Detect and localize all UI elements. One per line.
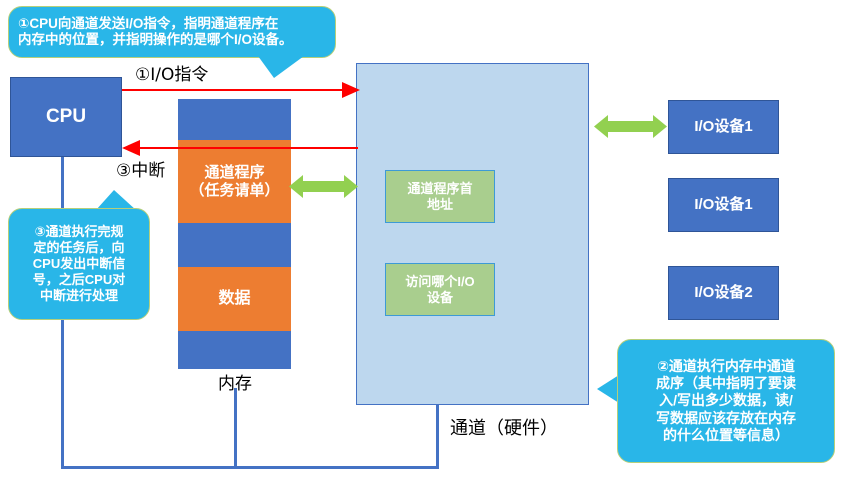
memory-data-label: 数据 [218,290,250,308]
io-device-1[interactable]: I/O设备1 [668,100,779,154]
callout-step1-line1: ①CPU向通道发送I/O指令，指明通道程序在 [18,16,278,32]
bus-line-horizontal [61,466,439,469]
memory-segment-free-bottom [178,331,291,369]
channel-caption-text: 通道（硬件） [450,418,558,439]
bus-line-memory [234,388,237,469]
callout-step2-line5: 的什么位置等信息） [663,427,789,444]
channel-item-program-address-line1: 通道程序首 [407,181,472,197]
callout-step2-line2: 成序（其中指明了要读 [656,375,796,392]
callout-step3-line4: 号，之后CPU对 [33,272,125,288]
io-instruction-label-text: ①I/O指令 [135,65,208,85]
memory-caption: 内存 [199,369,271,394]
callout-step2-tail [597,375,619,403]
interrupt-label: ③中断 [116,156,165,181]
callout-step2[interactable]: ②通道执行内存中通道 成序（其中指明了要读 入/写出多少数据，读/ 写数据应该存… [617,339,835,463]
arrow-memory-channel [289,175,358,198]
callout-step1-line2: 内存中的位置，并指明操作的是哪个I/O设备。 [18,32,293,48]
callout-step3-line3: CPU发出中断信 [33,256,125,272]
callout-step3-line1: ③通道执行完规 [34,224,123,240]
memory-channel-program-line2: （任务请单） [189,182,279,199]
memory-segment-free-mid [178,223,291,267]
bus-line-channel [436,405,439,469]
io-device-1-label: I/O设备1 [694,118,752,135]
callout-step3-tail [96,190,136,210]
memory-segment-channel-program[interactable]: 通道程序 （任务请单） [178,140,291,223]
diagram-canvas: CPU 通道程序 （任务请单） 数据 内存 通道程序首 地址 访问哪个I/O 设… [0,0,854,489]
channel-caption: 通道（硬件） [450,414,558,440]
io-device-2-label: I/O设备1 [694,196,752,213]
cpu-label: CPU [46,106,86,128]
callout-step3-line5: 中断进行处理 [40,288,118,304]
channel-item-device-select-line2: 设备 [427,290,453,306]
channel-item-program-address[interactable]: 通道程序首 地址 [385,170,495,223]
memory-segment-data[interactable]: 数据 [178,267,291,331]
memory-segment-free-top [178,99,291,140]
io-device-3[interactable]: I/O设备2 [668,266,779,320]
cpu-box[interactable]: CPU [10,77,122,157]
io-device-3-label: I/O设备2 [694,284,752,301]
channel-item-device-select-line1: 访问哪个I/O [405,274,474,290]
callout-step3-line2: 定的任务后，向 [33,240,124,256]
channel-box[interactable] [356,63,589,405]
arrow-channel-device1 [594,115,667,138]
interrupt-label-text: ③中断 [116,161,165,181]
callout-step1[interactable]: ①CPU向通道发送I/O指令，指明通道程序在 内存中的位置，并指明操作的是哪个I… [8,6,336,58]
callout-step1-wrapper: ①CPU向通道发送I/O指令，指明通道程序在 内存中的位置，并指明操作的是哪个I… [8,6,336,58]
callout-step3[interactable]: ③通道执行完规 定的任务后，向 CPU发出中断信 号，之后CPU对 中断进行处理 [8,208,150,320]
callout-step2-line1: ②通道执行内存中通道 [657,358,795,375]
callout-step1-tail [258,56,304,78]
callout-step2-line4: 写数据应该存放在内存 [656,410,796,427]
memory-caption-text: 内存 [218,374,252,394]
memory-channel-program-line1: 通道程序 [204,164,264,181]
io-device-2[interactable]: I/O设备1 [668,178,779,232]
channel-item-device-select[interactable]: 访问哪个I/O 设备 [385,263,495,316]
io-instruction-label: ①I/O指令 [135,60,208,85]
channel-item-program-address-line2: 地址 [427,197,453,213]
callout-step2-line3: 入/写出多少数据，读/ [659,392,793,409]
